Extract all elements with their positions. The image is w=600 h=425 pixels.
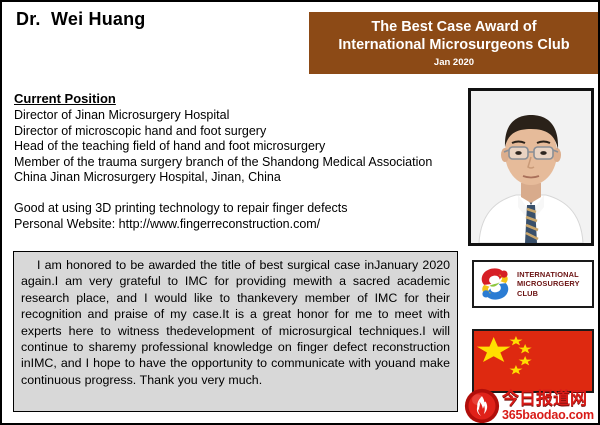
china-flag-box [472,329,594,393]
current-position-heading: Current Position [14,90,464,107]
watermark-flame-badge-icon [464,388,500,424]
personal-website-line[interactable]: Personal Website: http://www.fingerrecon… [14,216,464,232]
slide-canvas: Dr. Wei Huang The Best Case Award of Int… [0,0,600,425]
portrait-image [471,91,591,243]
position-line: China Jinan Microsurgery Hospital, Jinan… [14,170,464,186]
position-line: Member of the trauma surgery branch of t… [14,155,464,171]
imc-s-logo-icon [477,266,513,302]
position-line: Director of microscopic hand and foot su… [14,124,464,140]
imc-line-1: INTERNATIONAL [517,270,580,279]
acceptance-statement-box: I am honored to be awarded the title of … [13,251,458,412]
china-flag-icon [474,331,592,391]
imc-logo-box: INTERNATIONAL MICROSURGERY CLUB [472,260,594,308]
watermark-domain-text: 365baodao.com [502,409,594,422]
award-banner: The Best Case Award of International Mic… [309,12,599,74]
award-title-line-2: International Microsurgeons Club [309,36,599,54]
watermark: 今日报道网 365baodao.com [464,387,600,425]
page-title: Dr. Wei Huang [16,9,146,30]
skill-line: Good at using 3D printing technology to … [14,200,464,216]
position-line: Head of the teaching field of hand and f… [14,139,464,155]
watermark-text: 今日报道网 365baodao.com [502,390,594,422]
current-position-block: Current Position Director of Jinan Micro… [14,90,464,186]
imc-line-3: CLUB [517,289,580,298]
award-title-line-1: The Best Case Award of [309,18,599,36]
imc-line-2: MICROSURGERY [517,279,580,288]
imc-logo-text: INTERNATIONAL MICROSURGERY CLUB [517,270,580,298]
extra-info-block: Good at using 3D printing technology to … [14,200,464,232]
portrait-photo [468,88,594,246]
position-line: Director of Jinan Microsurgery Hospital [14,108,464,124]
acceptance-statement-text: I am honored to be awarded the title of … [21,257,450,388]
watermark-chinese-text: 今日报道网 [502,390,594,407]
award-date: Jan 2020 [309,56,599,70]
